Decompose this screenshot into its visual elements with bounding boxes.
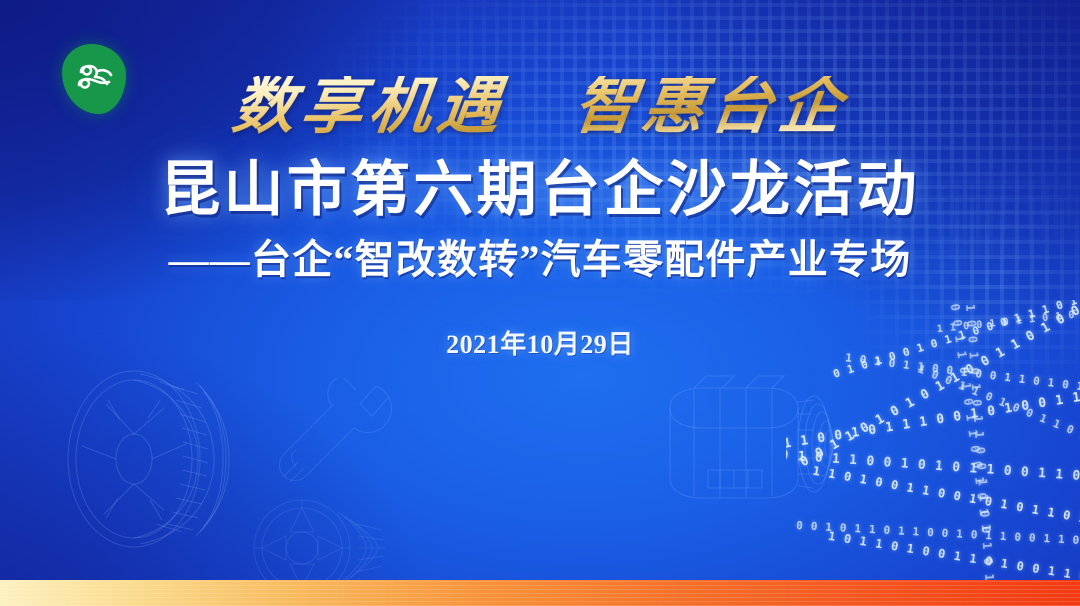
main-title: 昆山市第六期台企沙龙活动 bbox=[0, 160, 1080, 220]
event-banner: 0 1 0 1 0 0 1 0 1 1 0 0 0 1 1 1 0 1 0 1 … bbox=[0, 0, 1080, 606]
gold-slogan: 数享机遇 智惠台企 bbox=[229, 76, 850, 138]
title-block: 数享机遇 智惠台企 昆山市第六期台企沙龙活动 ——台企“智改数转”汽车零配件产业… bbox=[0, 0, 1080, 361]
subtitle: ——台企“智改数转”汽车零配件产业专场 bbox=[0, 240, 1080, 280]
bottom-accent-bar bbox=[0, 580, 1080, 606]
event-date: 2021年10月29日 bbox=[0, 324, 1080, 361]
bottom-bar-sheen bbox=[0, 580, 1080, 606]
